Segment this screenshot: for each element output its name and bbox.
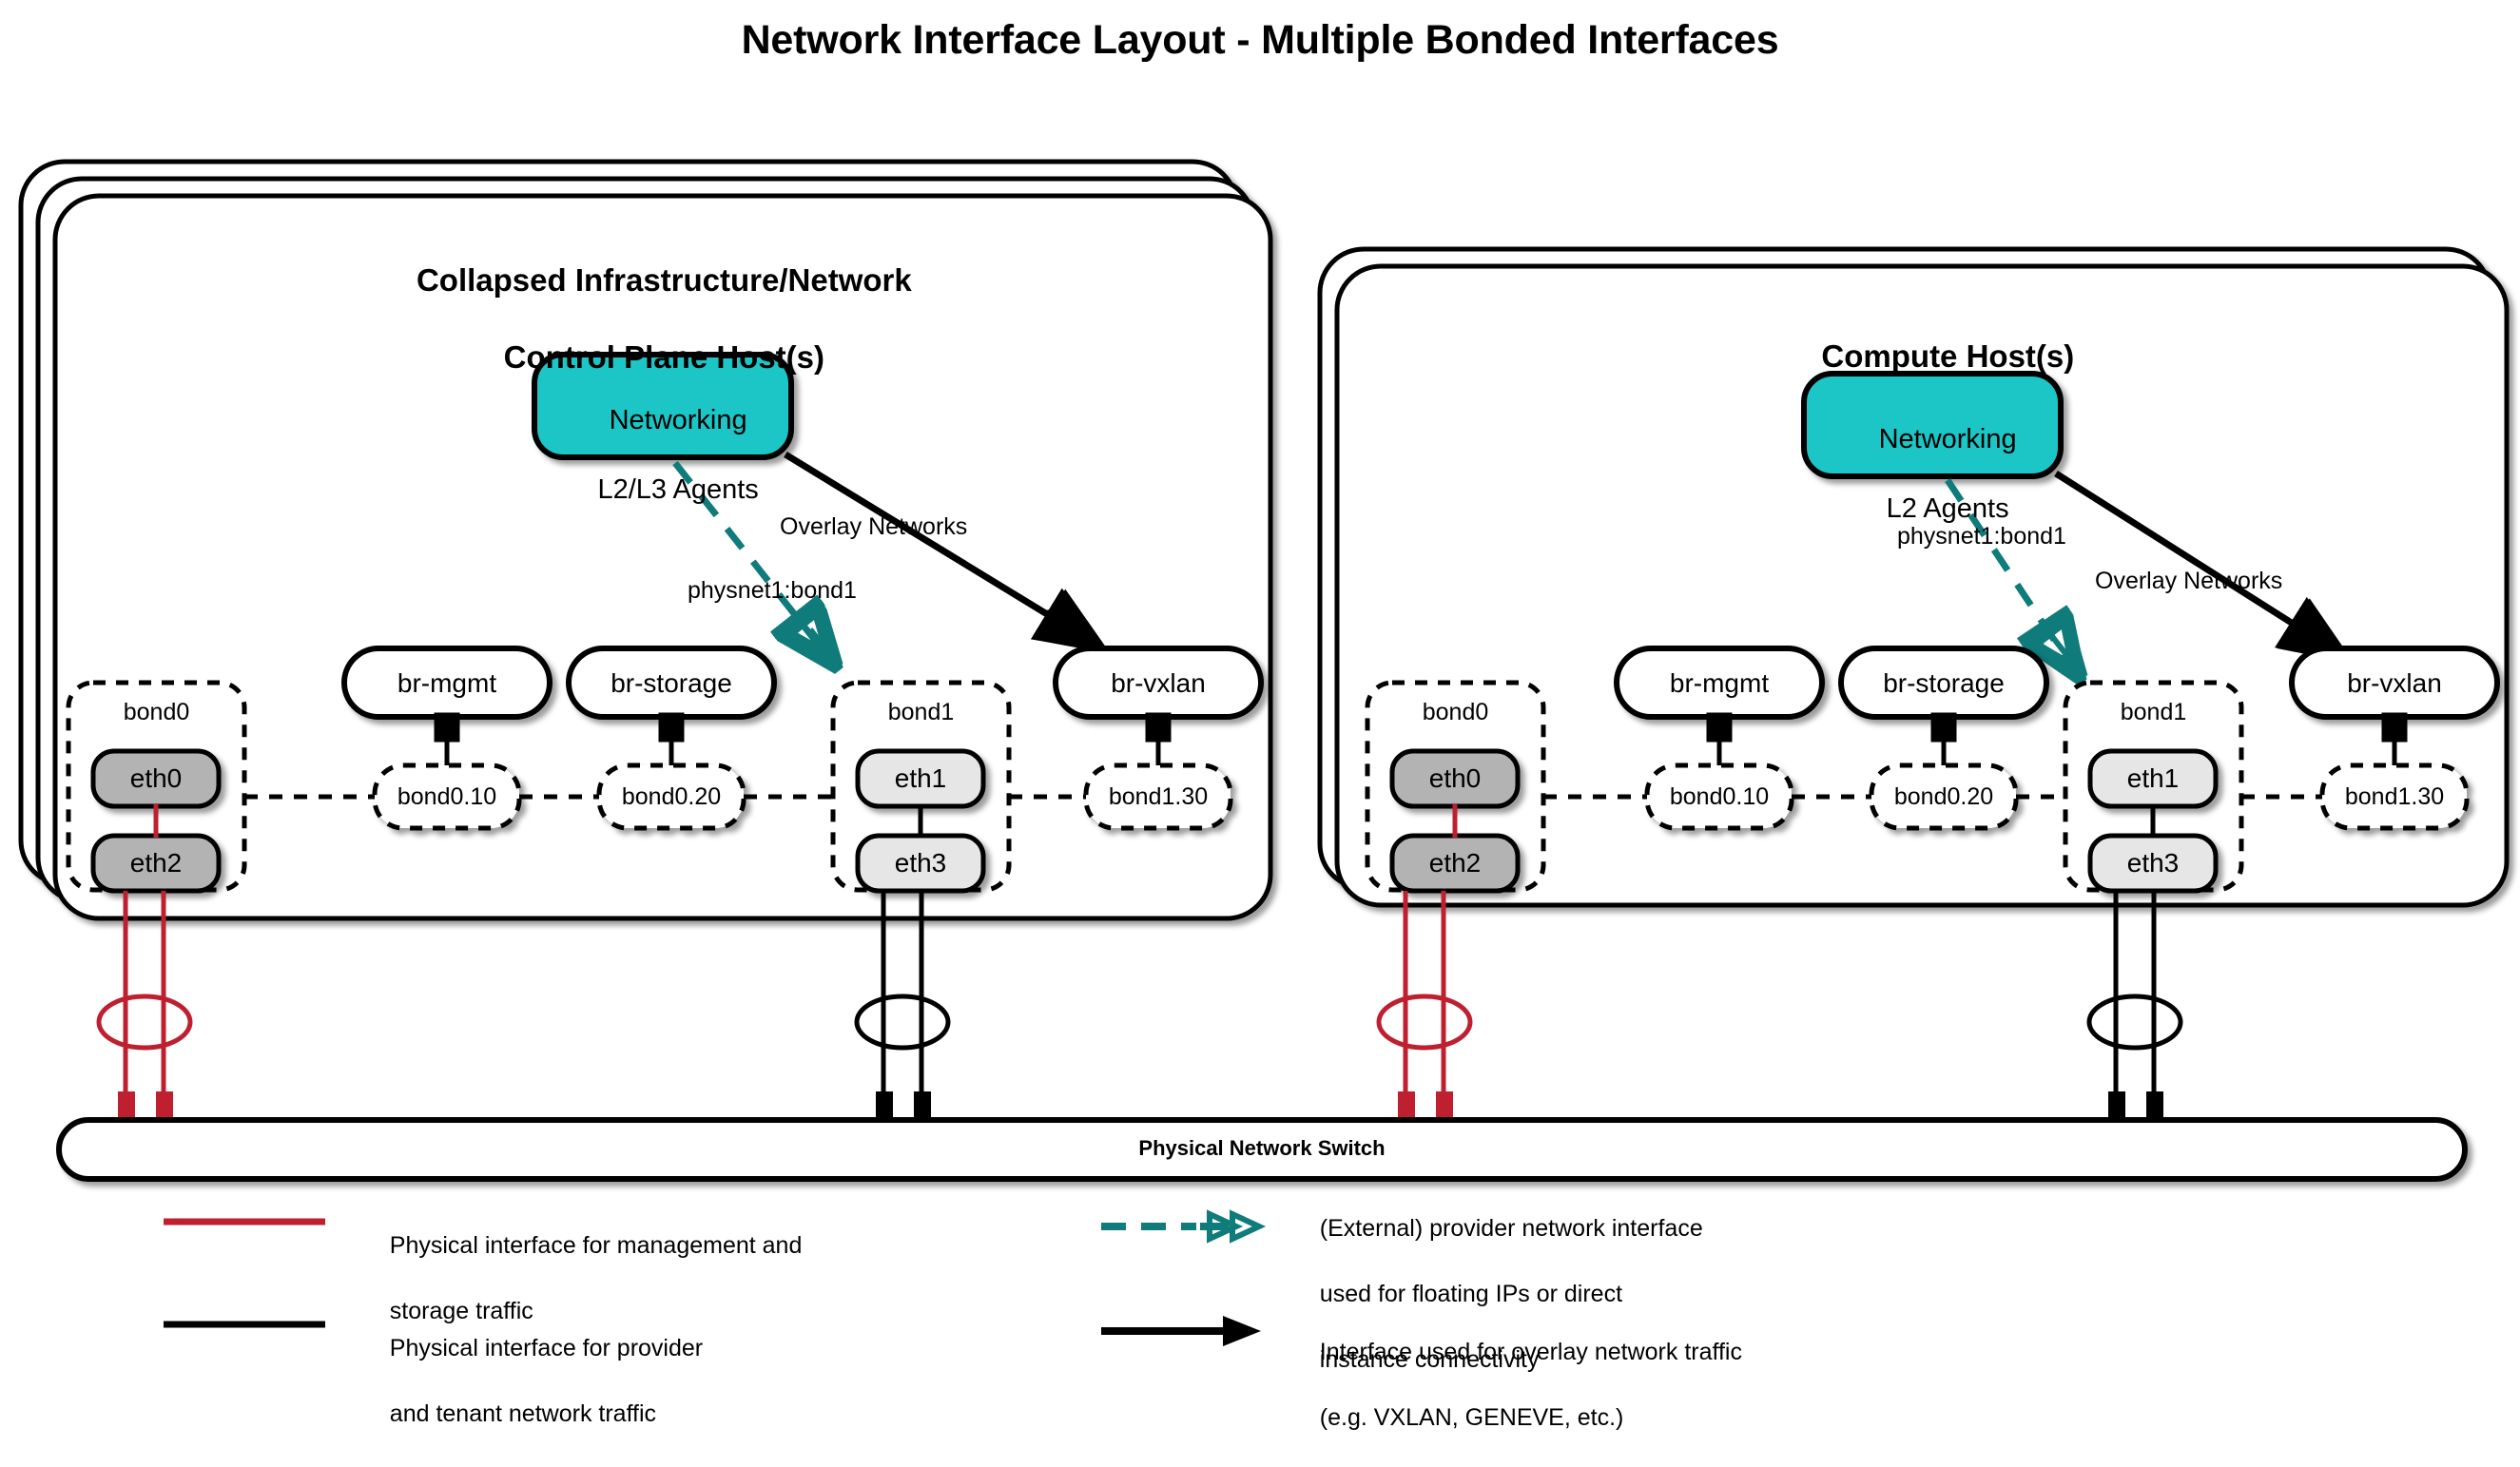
- vlan-label-control-plane-bond0-20: bond0.20: [599, 783, 744, 811]
- nic-label-compute-eth1: eth1: [2090, 763, 2216, 794]
- bond-label-compute-bond0: bond0: [1367, 699, 1543, 726]
- legend-text-tenant: Physical interface for provider and tena…: [363, 1299, 703, 1463]
- edge-label-overlay-control-plane: Overlay Networks: [780, 513, 967, 541]
- legend-1-line2: and tenant network traffic: [390, 1400, 656, 1427]
- bond-label-control-plane-bond1: bond1: [833, 699, 1009, 726]
- bridge-label-control-plane-br-vxlan: br-vxlan: [1056, 668, 1261, 699]
- nic-label-control-plane-eth3: eth3: [858, 848, 983, 878]
- vlan-label-compute-bond0-20: bond0.20: [1871, 783, 2016, 811]
- legend-2-line1: (External) provider network interface: [1320, 1215, 1703, 1242]
- bridge-label-compute-br-storage: br-storage: [1841, 668, 2046, 699]
- legend-3-line2: (e.g. VXLAN, GENEVE, etc.): [1320, 1404, 1624, 1431]
- host-title-compute-line1: Compute Host(s): [1821, 338, 2074, 374]
- diagram-canvas: Network Interface Layout - Multiple Bond…: [0, 0, 2520, 1407]
- vlan-label-compute-bond1-30: bond1.30: [2322, 783, 2467, 811]
- agent-line2: L2/L3 Agents: [597, 474, 758, 505]
- nic-label-compute-eth2: eth2: [1392, 848, 1518, 878]
- nic-label-control-plane-eth1: eth1: [858, 763, 983, 794]
- bridge-label-compute-br-mgmt: br-mgmt: [1617, 668, 1822, 699]
- switch-label: Physical Network Switch: [59, 1136, 2465, 1161]
- nic-label-compute-eth3: eth3: [2090, 848, 2216, 878]
- bond-label-compute-bond1: bond1: [2065, 699, 2241, 726]
- agent-label-control-plane: Networking L2/L3 Agents: [534, 369, 791, 541]
- edge-label-provider-compute: physnet1:bond1: [1897, 523, 2066, 550]
- nic-label-control-plane-eth0: eth0: [93, 763, 219, 794]
- legend-glyph-overlay: [1101, 1316, 1261, 1346]
- agent-line1: Networking: [610, 405, 747, 435]
- bridge-label-compute-br-vxlan: br-vxlan: [2292, 668, 2497, 699]
- legend-glyph-provider: [1101, 1214, 1259, 1239]
- nic-label-compute-eth0: eth0: [1392, 763, 1518, 794]
- nic-label-control-plane-eth2: eth2: [93, 848, 219, 878]
- host-title-line1: Collapsed Infrastructure/Network: [417, 262, 912, 298]
- legend-1-line1: Physical interface for provider: [390, 1335, 703, 1361]
- bridge-label-control-plane-br-storage: br-storage: [569, 668, 774, 699]
- bond-label-control-plane-bond0: bond0: [68, 699, 244, 726]
- vlan-label-compute-bond0-10: bond0.10: [1647, 783, 1792, 811]
- agent-compute-line1: Networking: [1879, 424, 2017, 454]
- legend-0-line1: Physical interface for management and: [390, 1232, 803, 1259]
- vlan-label-control-plane-bond1-30: bond1.30: [1086, 783, 1231, 811]
- legend-text-overlay: Interface used for overlay network traff…: [1293, 1303, 1742, 1467]
- vlan-label-control-plane-bond0-10: bond0.10: [375, 783, 519, 811]
- bridge-label-control-plane-br-mgmt: br-mgmt: [344, 668, 550, 699]
- edge-label-provider-control-plane: physnet1:bond1: [688, 577, 857, 605]
- legend-3-line1: Interface used for overlay network traff…: [1320, 1339, 1742, 1365]
- agent-compute-line2: L2 Agents: [1887, 493, 2009, 524]
- edge-label-overlay-compute: Overlay Networks: [2095, 568, 2282, 595]
